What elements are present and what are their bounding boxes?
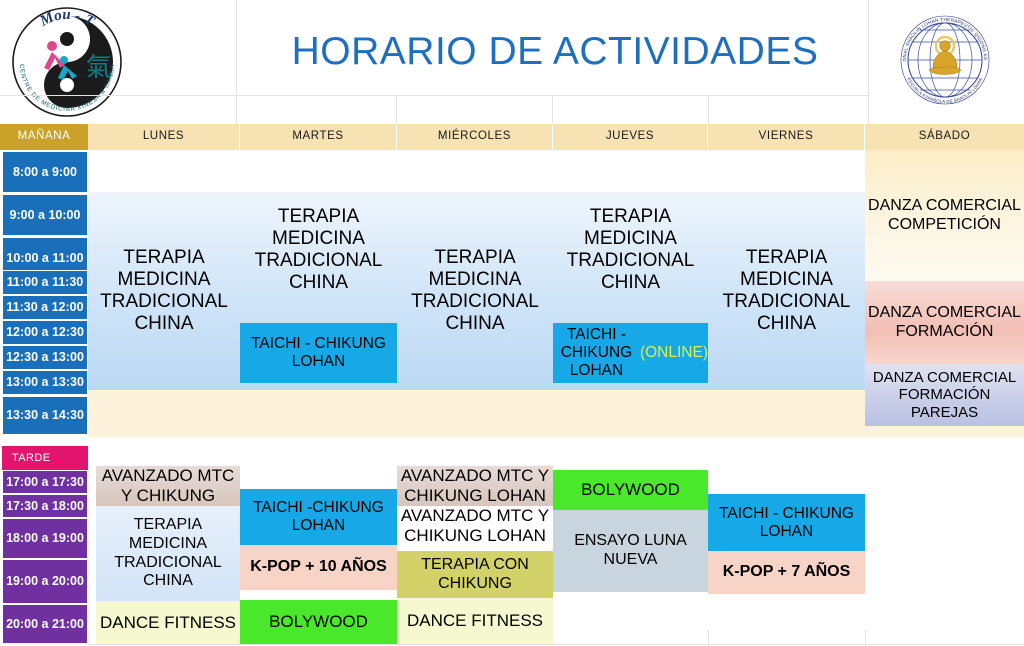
afternoon-section-header: TARDE (2, 446, 88, 470)
page-title: HORARIO DE ACTIVIDADES (240, 12, 870, 92)
header-divider (868, 0, 869, 124)
mou-t-logo: 氣 Mou - T CENTRE DE MEDICINA XINESA & DA… (8, 2, 126, 120)
activity-miercoles-terapia-con-chikung[interactable]: TERAPIA CON CHIKUNG (397, 551, 553, 598)
time-slot-0800: 8:00 a 9:00 (2, 151, 88, 193)
sabado-cream-filler (865, 426, 1024, 437)
activity-jueves-ensayo-luna-nueva[interactable]: ENSAYO LUNA NUEVA (553, 510, 708, 592)
online-badge: (ONLINE) (640, 344, 708, 362)
activity-martes-taichi-lohan[interactable]: TAICHI - CHIKUNG LOHAN (240, 323, 397, 383)
time-slot-2000: 20:00 a 21:00 (2, 604, 88, 644)
header-divider (552, 95, 553, 124)
bottom-col-divider (708, 630, 709, 646)
time-slot-1230: 12:30 a 13:00 (2, 345, 88, 370)
time-slot-1330: 13:30 a 14:30 (2, 396, 88, 435)
time-slot-1900: 19:00 a 20:00 (2, 559, 88, 604)
activity-miercoles-terapia-mtc[interactable]: TERAPIA MEDICINA TRADICIONAL CHINA (397, 192, 553, 390)
time-slot-1300: 13:00 a 13:30 (2, 370, 88, 395)
header-divider (0, 95, 236, 96)
morning-empty-0800-row (88, 150, 865, 192)
activity-lunes-avanzado-mtc[interactable]: AVANZADO MTC Y CHIKUNG LOHAN (96, 466, 240, 506)
shaolin-lohan-logo: INTERNATIONAL SHAOLIN LOHAN THERAPEUTIC … (893, 8, 997, 112)
page-header: 氣 Mou - T CENTRE DE MEDICINA XINESA & DA… (0, 0, 1024, 124)
header-divider (708, 95, 709, 124)
header-divider (236, 0, 237, 124)
day-header-miercoles: MIÉRCOLES (397, 124, 553, 150)
activity-miercoles-avanzado-mtc[interactable]: AVANZADO MTC Y CHIKUNG LOHAN (397, 466, 553, 506)
time-slot-1200: 12:00 a 12:30 (2, 320, 88, 345)
activity-jueves-bolywood[interactable]: BOLYWOOD (553, 470, 708, 510)
activity-sabado-danza-competicion[interactable]: DANZA COMERCIAL COMPETICIÓN (865, 150, 1024, 281)
day-header-sabado: SÁBADO (865, 124, 1024, 150)
time-slot-1100: 11:00 a 11:30 (2, 270, 88, 295)
time-slot-1130: 11:30 a 12:00 (2, 295, 88, 320)
day-header-viernes: VIERNES (708, 124, 865, 150)
time-slot-1730: 17:30 a 18:00 (2, 494, 88, 518)
activity-martes-bolywood[interactable]: BOLYWOOD (240, 600, 397, 644)
header-divider (396, 95, 397, 124)
day-header-martes: MARTES (240, 124, 397, 150)
schedule-page: 氣 Mou - T CENTRE DE MEDICINA XINESA & DA… (0, 0, 1024, 646)
time-slot-1700: 17:00 a 17:30 (2, 470, 88, 494)
day-header-lunes: LUNES (88, 124, 240, 150)
activity-miercoles-dance-fitness[interactable]: DANCE FITNESS (397, 598, 553, 644)
activity-label: TAICHI - CHIKUNG LOHAN (553, 326, 640, 380)
day-header-jueves: JUEVES (553, 124, 708, 150)
morning-section-header: MAÑANA (0, 124, 88, 150)
activity-miercoles-avanzado-mtc-online[interactable]: AVANZADO MTC Y CHIKUNG LOHAN (ONLINE) (397, 506, 553, 548)
morning-cream-band (88, 390, 865, 437)
activity-martes-taichi-lohan-tarde[interactable]: TAICHI -CHIKUNG LOHAN (240, 489, 397, 545)
time-slot-1800: 18:00 a 19:00 (2, 518, 88, 559)
activity-jueves-taichi-lohan-online[interactable]: TAICHI - CHIKUNG LOHAN (ONLINE) (553, 323, 708, 383)
activity-sabado-danza-formacion-parejas[interactable]: DANZA COMERCIAL FORMACIÓN PAREJAS (865, 364, 1024, 426)
activity-viernes-terapia-mtc[interactable]: TERAPIA MEDICINA TRADICIONAL CHINA (708, 192, 865, 390)
bottom-divider (88, 644, 1024, 645)
activity-viernes-taichi-lohan[interactable]: TAICHI - CHIKUNG LOHAN (708, 494, 865, 551)
activity-lunes-terapia-mtc-tarde[interactable]: TERAPIA MEDICINA TRADICIONAL CHINA (96, 506, 240, 601)
bottom-col-divider (865, 630, 866, 646)
activity-viernes-kpop-7[interactable]: K-POP + 7 AÑOS (708, 551, 865, 594)
activity-sabado-danza-formacion[interactable]: DANZA COMERCIAL FORMACIÓN (865, 281, 1024, 364)
activity-lunes-terapia-mtc[interactable]: TERAPIA MEDICINA TRADICIONAL CHINA (88, 192, 240, 390)
activity-lunes-dance-fitness[interactable]: DANCE FITNESS (96, 601, 240, 644)
activity-martes-kpop-10[interactable]: K-POP + 10 AÑOS (240, 545, 397, 590)
time-slot-0900: 9:00 a 10:00 (2, 194, 88, 236)
